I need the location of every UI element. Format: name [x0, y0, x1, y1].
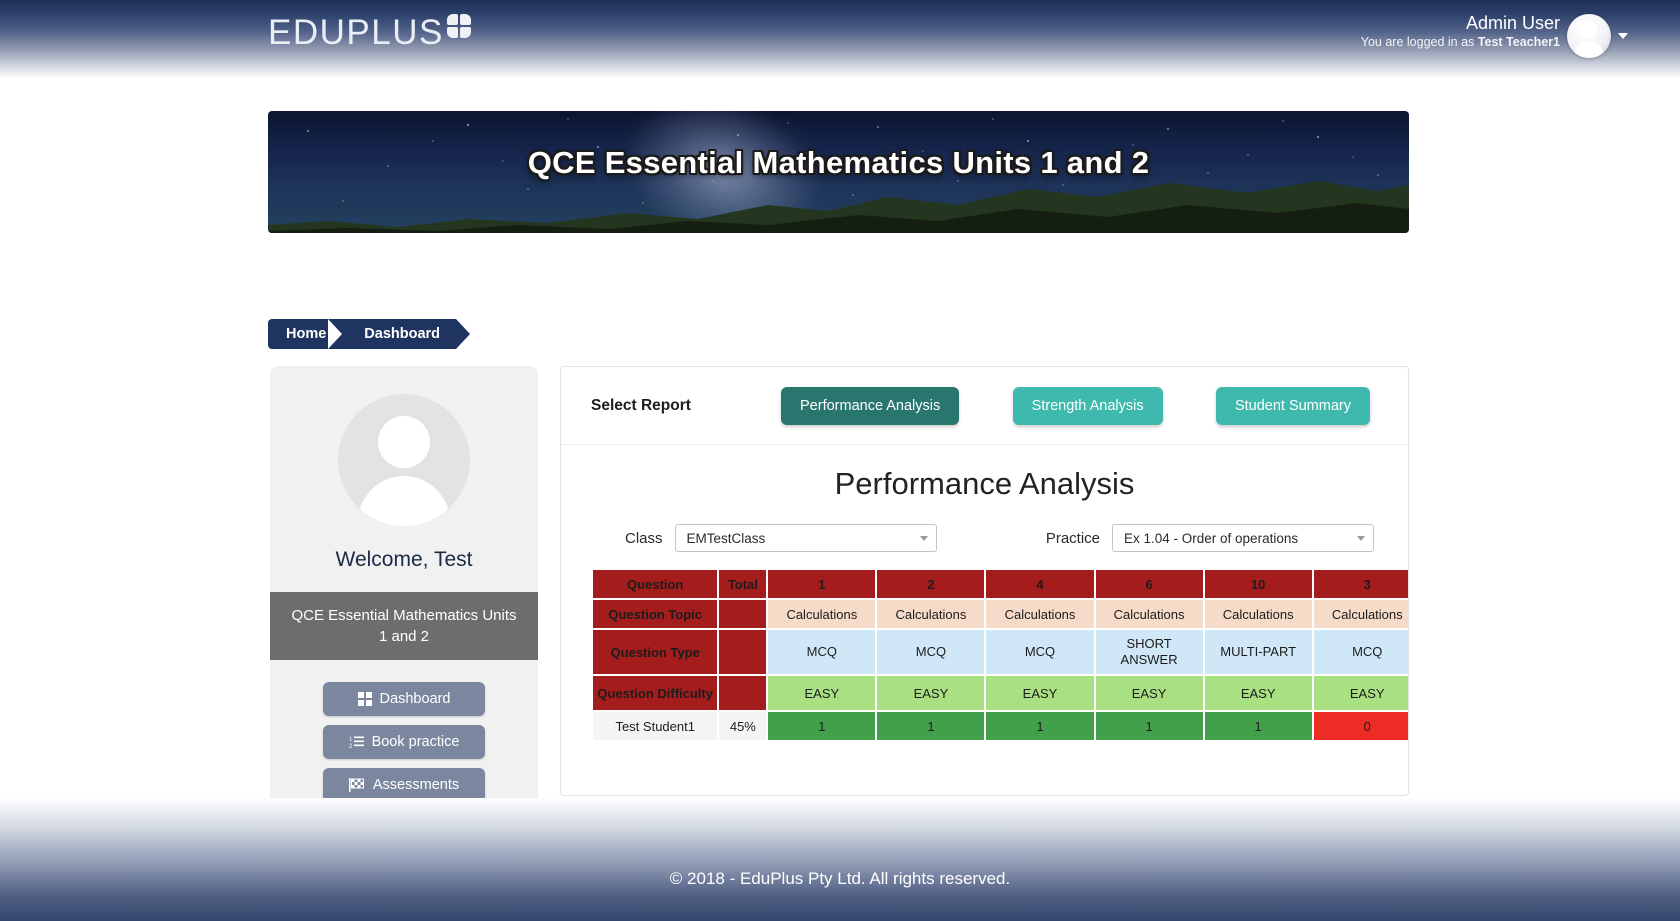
question-topic-cell: Calculations [1314, 600, 1409, 628]
practice-filter: Practice Ex 1.04 - Order of operations [1046, 524, 1374, 552]
sidebar-item-assessments[interactable]: Assessments [323, 768, 485, 802]
app-header: EDUPLUS Admin User You are logged in as … [0, 0, 1680, 78]
question-number-cell: 10 [1205, 570, 1312, 598]
table-row-type: Question Type MCQ MCQ MCQ SHORT ANSWER M… [593, 630, 1409, 674]
student-score-cell: 1 [768, 712, 875, 740]
question-difficulty-cell: EASY [768, 676, 875, 710]
clover-mark-icon [447, 14, 473, 40]
logged-in-as: You are logged in as Test Teacher1 [1361, 34, 1560, 51]
report-title: Performance Analysis [561, 466, 1408, 502]
difficulty-total-blank [719, 676, 766, 710]
report-button-student-summary[interactable]: Student Summary [1216, 387, 1370, 425]
class-filter: Class EMTestClass [625, 524, 937, 552]
copyright-text: © 2018 - EduPlus Pty Ltd. All rights res… [670, 869, 1010, 889]
sidebar-item-label: Book practice [372, 734, 460, 750]
svg-text:1: 1 [349, 737, 353, 743]
practice-label: Practice [1046, 530, 1100, 547]
question-number-cell: 2 [877, 570, 984, 598]
select-report-label: Select Report [591, 397, 781, 415]
user-name: Admin User [1361, 12, 1560, 34]
question-number-cell: 1 [768, 570, 875, 598]
sidebar-item-book-practice[interactable]: 12 Book practice [323, 725, 485, 759]
question-number-cell: 3 [1314, 570, 1409, 598]
breadcrumb-item-dashboard[interactable]: Dashboard [342, 319, 456, 349]
breadcrumb: Home Dashboard [268, 319, 456, 349]
logged-in-username: Test Teacher1 [1478, 35, 1560, 49]
question-type-cell: SHORT ANSWER [1096, 630, 1203, 674]
student-name-cell: Test Student1 [593, 712, 717, 740]
student-score-cell: 1 [1096, 712, 1203, 740]
report-selector-bar: Select Report Performance Analysis Stren… [561, 367, 1408, 445]
row-label-total: Total [719, 570, 766, 598]
question-difficulty-cell: EASY [877, 676, 984, 710]
table-row-difficulty: Question Difficulty EASY EASY EASY EASY … [593, 676, 1409, 710]
performance-table: Question Total 1 2 4 6 10 3 5 Question T… [591, 568, 1409, 742]
report-button-strength-analysis[interactable]: Strength Analysis [1013, 387, 1163, 425]
question-difficulty-cell: EASY [1096, 676, 1203, 710]
question-topic-cell: Calculations [768, 600, 875, 628]
report-card: Select Report Performance Analysis Stren… [560, 366, 1409, 796]
svg-text:2: 2 [349, 744, 353, 749]
performance-table-scroll[interactable]: Question Total 1 2 4 6 10 3 5 Question T… [561, 568, 1409, 742]
question-topic-cell: Calculations [877, 600, 984, 628]
sidebar-course-title: QCE Essential Mathematics Units 1 and 2 [270, 592, 538, 660]
row-label-difficulty: Question Difficulty [593, 676, 717, 710]
chevron-down-icon [920, 536, 928, 541]
question-number-cell: 6 [1096, 570, 1203, 598]
question-topic-cell: Calculations [986, 600, 1093, 628]
sidebar-item-label: Assessments [373, 777, 459, 793]
question-difficulty-cell: EASY [986, 676, 1093, 710]
grid-icon [358, 692, 372, 706]
question-number-cell: 4 [986, 570, 1093, 598]
question-difficulty-cell: EASY [1314, 676, 1409, 710]
student-score-cell: 1 [986, 712, 1093, 740]
practice-select[interactable]: Ex 1.04 - Order of operations [1112, 524, 1374, 552]
student-total-cell: 45% [719, 712, 766, 740]
user-avatar-icon[interactable] [1567, 14, 1611, 58]
welcome-text: Welcome, Test [270, 548, 538, 572]
table-row-question: Question Total 1 2 4 6 10 3 5 [593, 570, 1409, 598]
question-difficulty-cell: EASY [1205, 676, 1312, 710]
table-row: Test Student1 45% 1 1 1 1 1 0 0 [593, 712, 1409, 740]
class-select-value: EMTestClass [687, 531, 914, 546]
question-topic-cell: Calculations [1096, 600, 1203, 628]
student-score-cell: 0 [1314, 712, 1409, 740]
question-type-cell: MCQ [1314, 630, 1409, 674]
question-type-cell: MCQ [768, 630, 875, 674]
question-type-cell: MCQ [877, 630, 984, 674]
user-info: Admin User You are logged in as Test Tea… [1361, 12, 1560, 51]
question-type-cell: MCQ [986, 630, 1093, 674]
row-label-topic: Question Topic [593, 600, 717, 628]
class-label: Class [625, 530, 663, 547]
app-footer: © 2018 - EduPlus Pty Ltd. All rights res… [0, 798, 1680, 921]
banner-mountain-ridge-icon [268, 175, 1409, 233]
sidebar-avatar-icon [338, 394, 470, 526]
student-score-cell: 1 [1205, 712, 1312, 740]
student-score-cell: 1 [877, 712, 984, 740]
type-total-blank [719, 630, 766, 674]
brand-logo[interactable]: EDUPLUS [268, 12, 473, 54]
table-row-topic: Question Topic Calculations Calculations… [593, 600, 1409, 628]
row-label-question: Question [593, 570, 717, 598]
sidebar-item-label: Dashboard [380, 691, 451, 707]
row-label-type: Question Type [593, 630, 717, 674]
checkered-flag-icon [349, 778, 365, 792]
sidebar-item-dashboard[interactable]: Dashboard [323, 682, 485, 716]
user-menu[interactable] [1567, 14, 1628, 58]
topic-total-blank [719, 600, 766, 628]
logo-text: EDUPLUS [268, 12, 444, 54]
course-banner: QCE Essential Mathematics Units 1 and 2 [268, 111, 1409, 233]
class-select[interactable]: EMTestClass [675, 524, 937, 552]
report-filters: Class EMTestClass Practice Ex 1.04 - Ord… [561, 524, 1408, 552]
report-button-performance-analysis[interactable]: Performance Analysis [781, 387, 959, 425]
chevron-down-icon [1357, 536, 1365, 541]
question-type-cell: MULTI-PART [1205, 630, 1312, 674]
list-ol-icon: 12 [349, 735, 364, 749]
logged-in-prefix: You are logged in as [1361, 35, 1478, 49]
report-buttons: Performance Analysis Strength Analysis S… [781, 387, 1374, 425]
page-body: QCE Essential Mathematics Units 1 and 2 … [0, 78, 1680, 843]
chevron-down-icon[interactable] [1618, 33, 1628, 39]
banner-title: QCE Essential Mathematics Units 1 and 2 [268, 145, 1409, 181]
question-topic-cell: Calculations [1205, 600, 1312, 628]
practice-select-value: Ex 1.04 - Order of operations [1124, 531, 1351, 546]
